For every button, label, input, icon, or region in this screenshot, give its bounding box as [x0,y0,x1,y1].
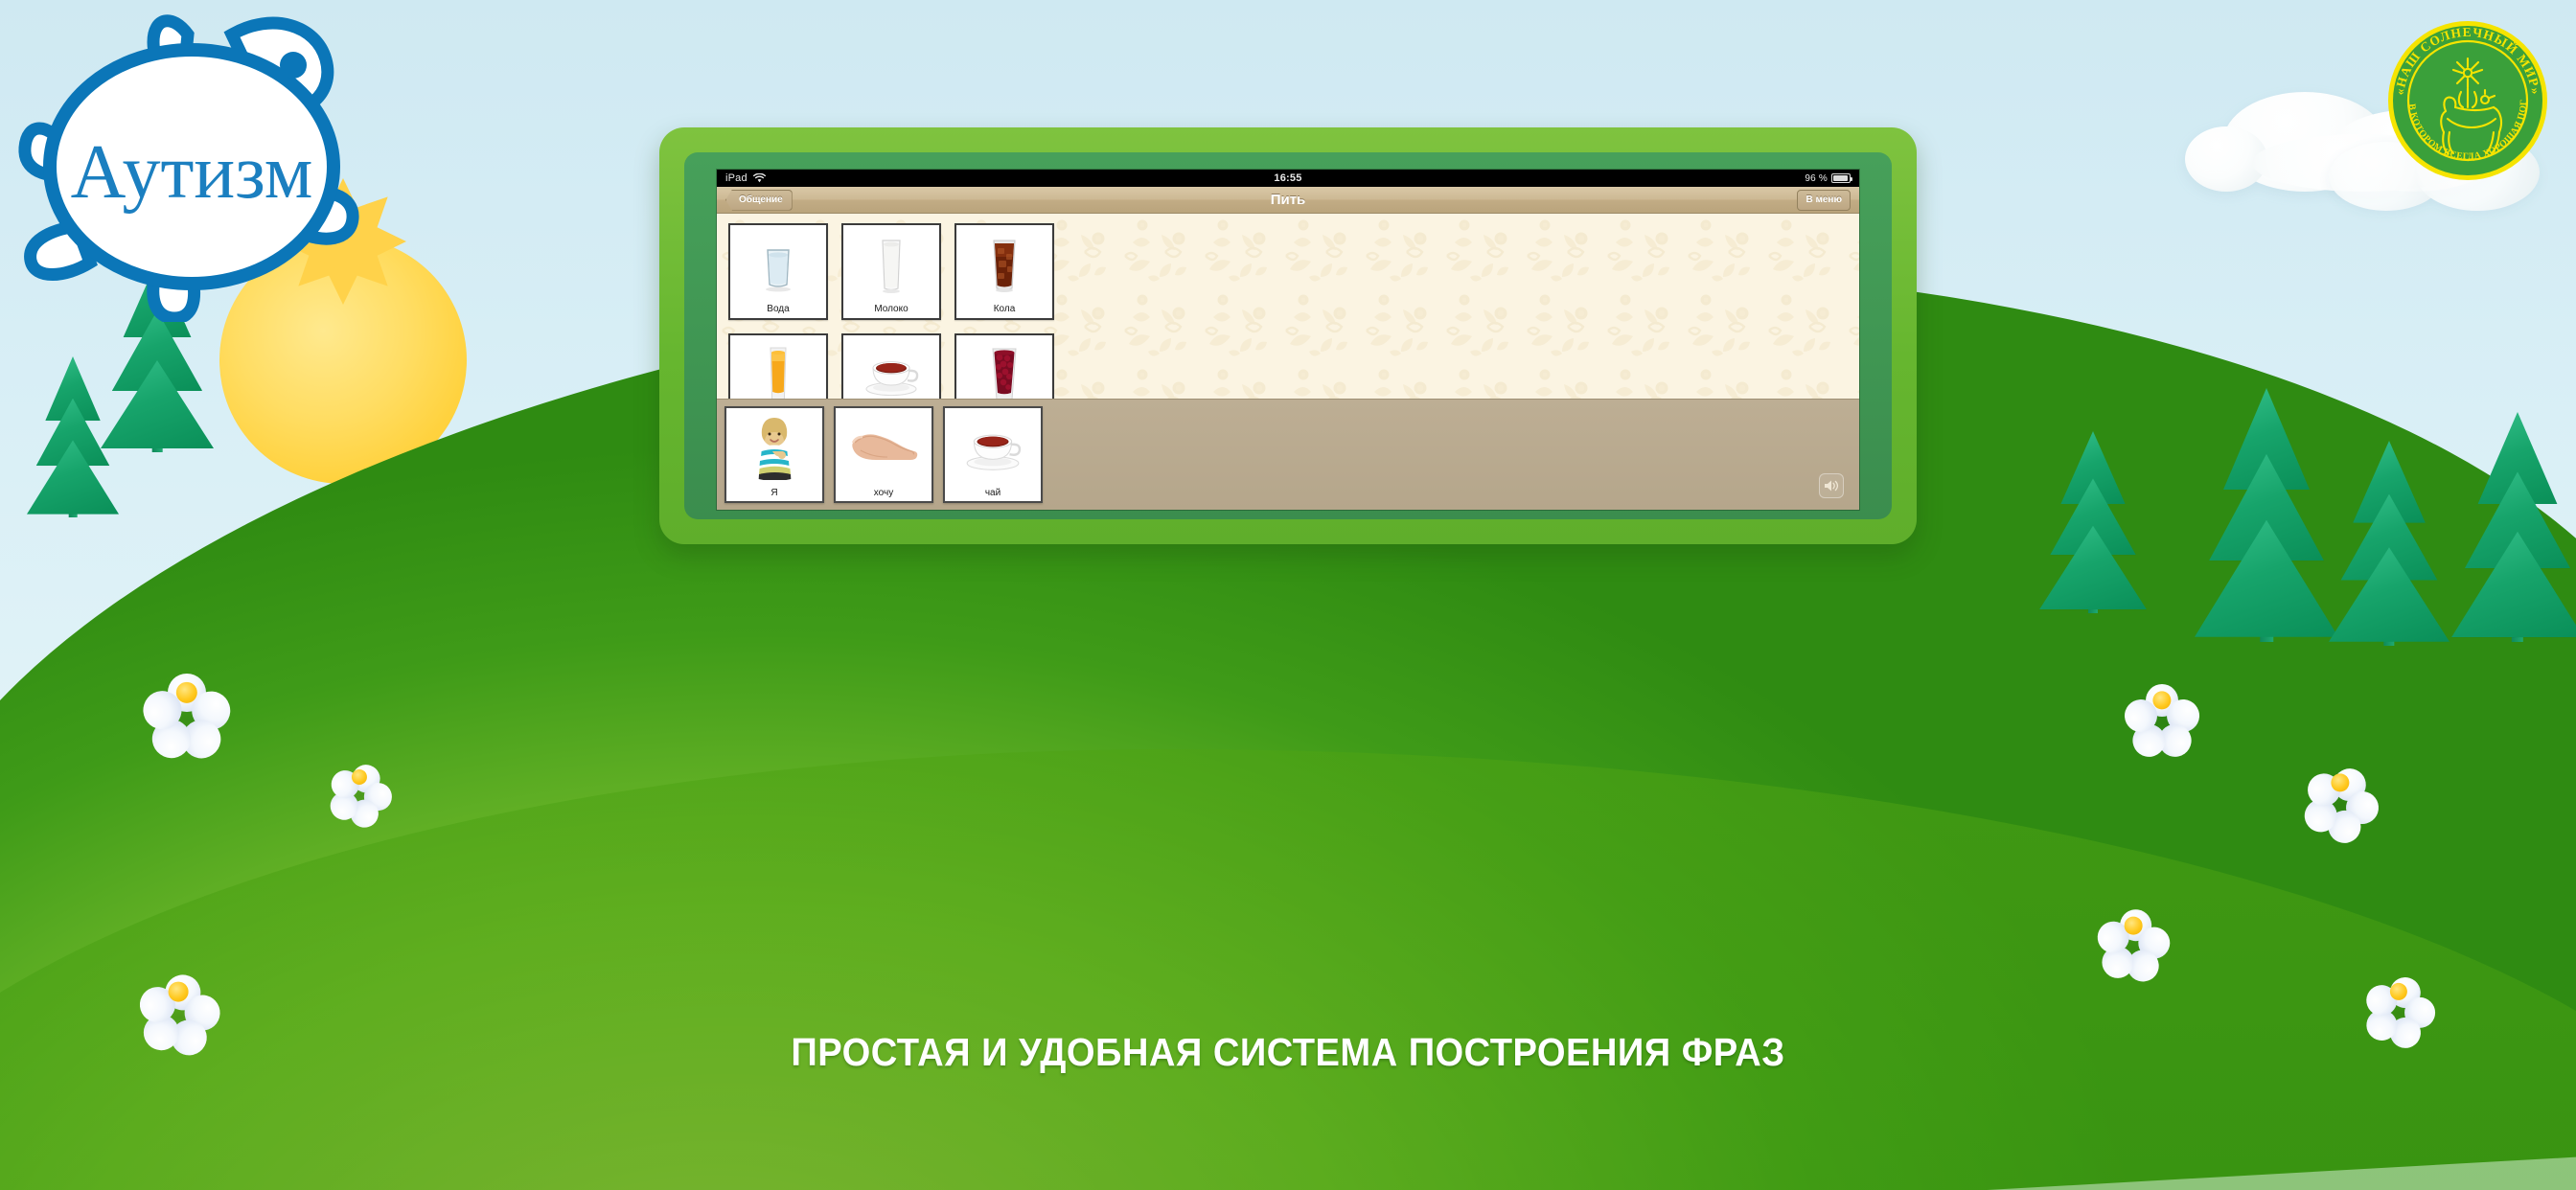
card-grid-area: Вода Молоко [717,214,1859,399]
card-kompot[interactable]: Компот [954,333,1054,399]
tree-right-3 [2329,441,2449,646]
autism-logo: Аутизм [10,6,374,322]
glass-of-cola-icon [956,225,1052,304]
sentence-card-label: хочу [874,488,893,498]
glass-of-water-icon [730,225,826,304]
nav-bar: Общение Пить В меню [717,187,1859,214]
card-label: Молоко [874,304,908,315]
speaker-icon [1824,479,1839,492]
open-hand-icon [836,408,931,488]
cup-of-tea-icon [945,408,1041,488]
ipad-screen: iPad 16:55 96 % Общение Пить В меню [717,170,1859,510]
child-photo-icon [726,408,822,488]
cup-of-tea-icon [843,335,939,399]
card-kola[interactable]: Кола [954,223,1054,320]
card-label: Вода [767,304,789,315]
glass-of-milk-icon [843,225,939,304]
page-caption: ПРОСТАЯ И УДОБНАЯ СИСТЕМА ПОСТРОЕНИЯ ФРА… [90,1030,2486,1075]
flower-5 [2305,747,2376,818]
org-logo: «НАШ СОЛНЕЧНЫЙ МИР» МИР В КОТОРОМ ВСЕГДА… [2386,19,2549,182]
card-label: Кола [994,304,1016,315]
sentence-card-label: чай [985,488,1000,498]
flower-7 [2365,958,2432,1025]
page-title: Пить [717,192,1859,208]
card-sok[interactable]: Сок [728,333,828,399]
sentence-card-ya[interactable]: Я [724,406,824,503]
sentence-strip: Я хочу [717,399,1859,510]
tree-right-2 [2195,388,2338,642]
sentence-card-label: Я [770,488,777,498]
turtle-icon: Аутизм [10,6,374,322]
glass-of-compote-icon [956,335,1052,399]
sentence-card-hochu[interactable]: хочу [834,406,933,503]
back-button[interactable]: Общение [725,190,793,211]
flower-4 [2127,665,2197,736]
tree-left-2 [27,356,119,517]
flower-2 [330,747,389,807]
status-time: 16:55 [717,172,1859,184]
glass-of-juice-icon [730,335,826,399]
flower-3 [140,953,217,1030]
speaker-button[interactable] [1819,473,1844,498]
sentence-card-chai[interactable]: чай [943,406,1043,503]
card-chai[interactable]: Чай [841,333,941,399]
status-battery-percent: 96 % [1805,173,1828,184]
menu-button[interactable]: В меню [1797,190,1851,211]
card-moloko[interactable]: Молоко [841,223,941,320]
flower-6 [2099,891,2168,960]
autism-logo-label: Аутизм [71,130,313,215]
flower-1 [146,652,228,734]
status-bar: iPad 16:55 96 % [717,170,1859,187]
ipad-device: iPad 16:55 96 % Общение Пить В меню [659,127,1917,544]
battery-icon [1831,173,1851,183]
drink-card-grid: Вода Молоко [717,214,1859,399]
tree-right-1 [2039,431,2147,613]
card-voda[interactable]: Вода [728,223,828,320]
tree-right-4 [2451,412,2576,642]
